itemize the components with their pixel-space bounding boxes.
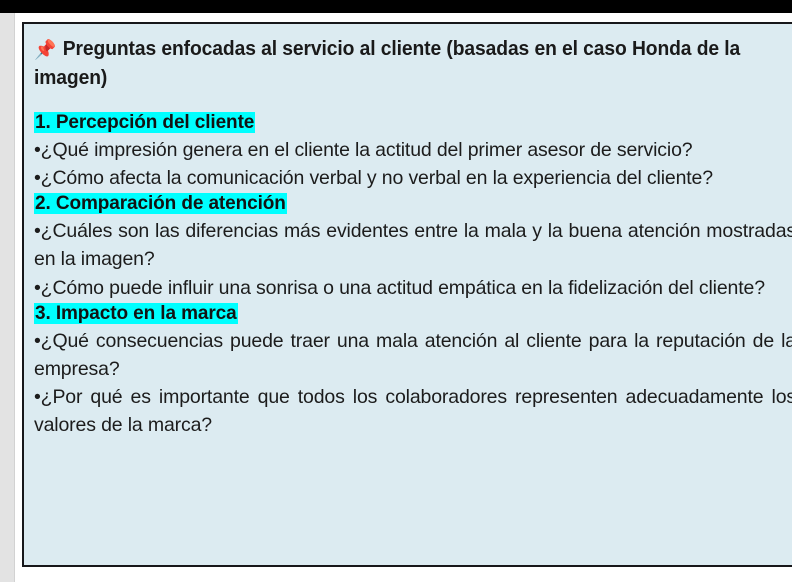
question-2-2: •¿Cómo puede influir una sonrisa o una a… [34, 274, 792, 302]
content-box: 📌Preguntas enfocadas al servicio al clie… [22, 22, 792, 567]
question-3-2: •¿Por qué es importante que todos los co… [34, 383, 792, 440]
section-heading-3: 3. Impacto en la marca [34, 302, 792, 327]
section-heading-2-text: 2. Comparación de atención [34, 193, 287, 214]
question-3-1: •¿Qué consecuencias puede traer una mala… [34, 327, 792, 384]
title-spacer [34, 92, 792, 111]
question-2-1: •¿Cuáles son las diferencias más evident… [34, 217, 792, 274]
question-1-2: •¿Cómo afecta la comunicación verbal y n… [34, 164, 792, 192]
page-title-text: Preguntas enfocadas al servicio al clien… [34, 37, 740, 89]
section-heading-2: 2. Comparación de atención [34, 192, 792, 217]
left-gutter-divider [14, 13, 15, 582]
section-heading-1-text: 1. Percepción del cliente [34, 112, 255, 133]
top-black-bar [0, 0, 792, 13]
screenshot-root: 📌Preguntas enfocadas al servicio al clie… [0, 0, 792, 582]
pushpin-icon: 📌 [34, 41, 56, 60]
section-heading-1: 1. Percepción del cliente [34, 111, 792, 136]
left-gutter [0, 13, 14, 582]
question-1-1: •¿Qué impresión genera en el cliente la … [34, 136, 792, 164]
section-heading-3-text: 3. Impacto en la marca [34, 303, 238, 324]
page-title: 📌Preguntas enfocadas al servicio al clie… [34, 34, 792, 92]
